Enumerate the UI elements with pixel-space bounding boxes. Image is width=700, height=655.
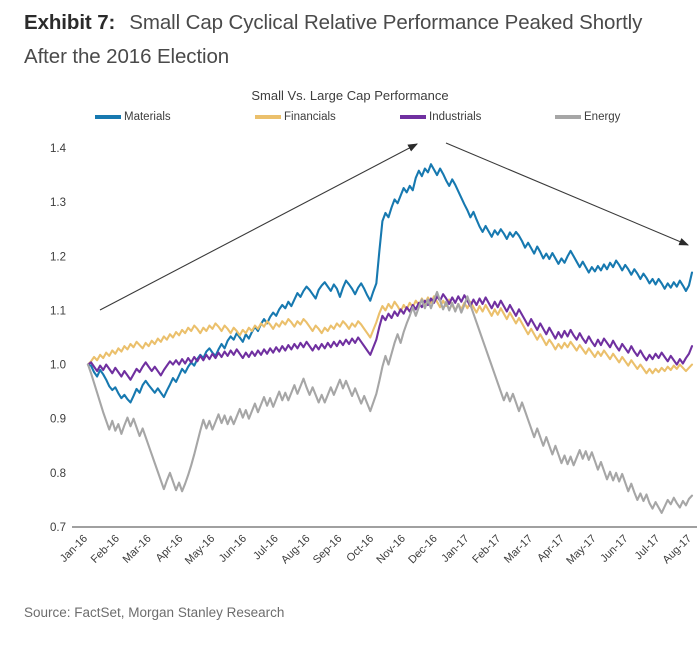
x-tick-Oct-16: Oct-16 <box>344 533 376 565</box>
x-tick-Jul-17: Jul-17 <box>633 533 663 563</box>
y-tick-1.4: 1.4 <box>50 143 67 155</box>
x-tick-May-16: May-16 <box>183 533 217 567</box>
x-tick-Mar-16: Mar-16 <box>121 533 154 566</box>
x-tick-Jun-16: Jun-16 <box>217 533 249 565</box>
x-tick-Aug-16: Aug-16 <box>279 533 313 567</box>
y-tick-0.9: 0.9 <box>50 414 66 426</box>
series-line-materials <box>88 164 692 402</box>
x-tick-May-17: May-17 <box>564 533 598 567</box>
x-tick-Jun-17: Jun-17 <box>598 533 630 565</box>
y-axis-tick-labels: 0.70.80.91.01.11.21.31.4 <box>50 143 67 534</box>
chart-container: Small Vs. Large Cap Performance Material… <box>0 80 700 590</box>
y-tick-1.2: 1.2 <box>50 251 66 263</box>
x-tick-Apr-17: Apr-17 <box>535 533 567 565</box>
x-tick-Sep-16: Sep-16 <box>311 533 345 567</box>
x-tick-Nov-16: Nov-16 <box>374 533 408 567</box>
x-tick-Feb-16: Feb-16 <box>89 533 122 566</box>
x-tick-Aug-17: Aug-17 <box>661 533 695 567</box>
series-line-energy <box>88 292 692 513</box>
x-tick-Apr-16: Apr-16 <box>154 533 186 565</box>
plot-svg: 0.70.80.91.01.11.21.31.4 Jan-16Feb-16Mar… <box>0 80 700 590</box>
series-lines <box>88 164 692 513</box>
y-tick-0.7: 0.7 <box>50 522 66 534</box>
x-tick-Jan-16: Jan-16 <box>58 533 90 565</box>
y-tick-0.8: 0.8 <box>50 468 66 480</box>
source-note: Source: FactSet, Morgan Stanley Research <box>24 605 284 620</box>
exhibit-label: Exhibit 7: <box>24 11 115 34</box>
x-tick-Dec-16: Dec-16 <box>406 533 440 567</box>
x-tick-Mar-17: Mar-17 <box>502 533 535 566</box>
rising-trend-arrow <box>100 144 417 310</box>
exhibit-header: Exhibit 7:Small Cap Cyclical Relative Pe… <box>24 6 684 74</box>
x-axis-tick-labels: Jan-16Feb-16Mar-16Apr-16May-16Jun-16Jul-… <box>58 533 694 567</box>
x-tick-Feb-17: Feb-17 <box>470 533 503 566</box>
y-tick-1.0: 1.0 <box>50 360 66 372</box>
x-tick-Jan-17: Jan-17 <box>439 533 471 565</box>
y-tick-1.1: 1.1 <box>50 305 66 317</box>
x-tick-Jul-16: Jul-16 <box>251 533 281 563</box>
y-tick-1.3: 1.3 <box>50 197 66 209</box>
exhibit-title: Small Cap Cyclical Relative Performance … <box>24 11 642 68</box>
